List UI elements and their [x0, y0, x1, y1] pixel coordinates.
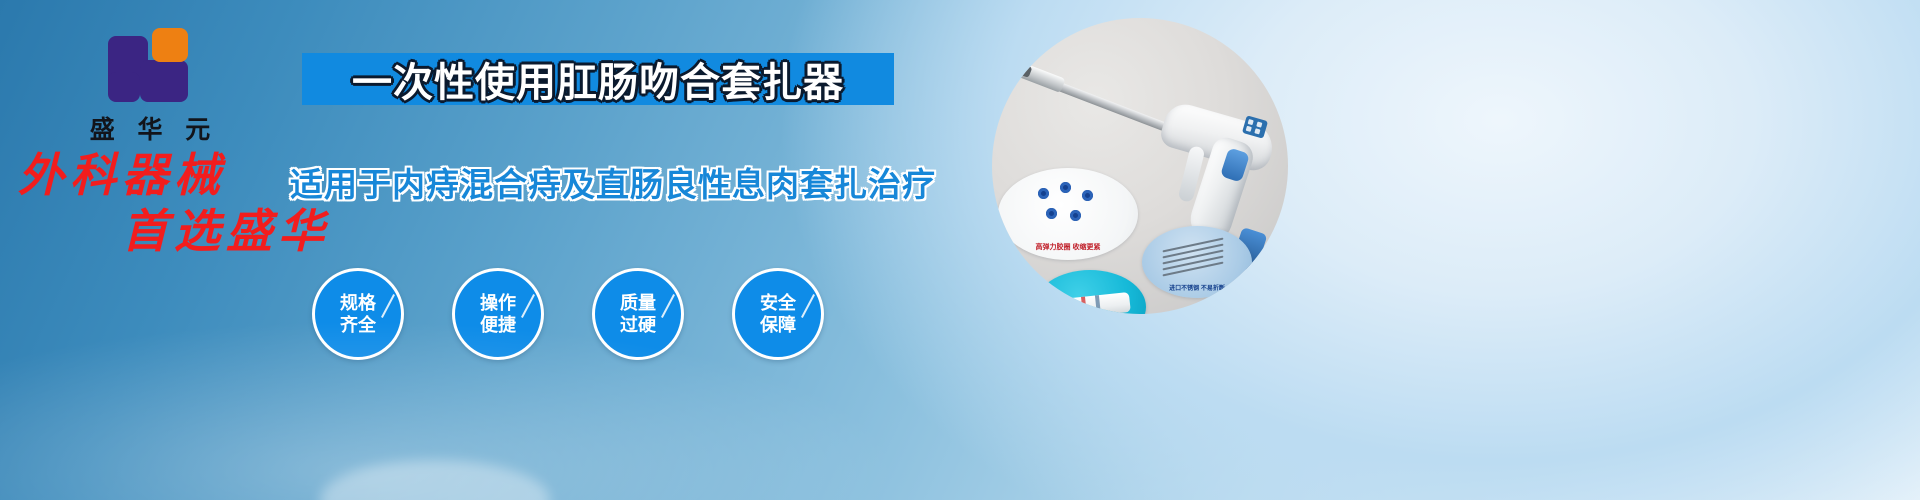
brand-logo: 盛 华 元: [60, 24, 240, 146]
badge-line-2: 过硬: [620, 314, 656, 337]
ligation-ring-icon: [1038, 188, 1049, 199]
badge-line-1: 质量: [620, 292, 656, 315]
badge-line-1: 规格: [340, 292, 376, 315]
logo-mark-icon: [104, 24, 196, 106]
feature-badges: 规格 齐全 操作 便捷 质量 过硬 安全 保障: [312, 268, 912, 363]
feature-badge[interactable]: 质量 过硬: [592, 268, 684, 360]
badge-line-2: 保障: [760, 314, 796, 337]
tube-icon: [1051, 292, 1131, 314]
page-subtitle: 适用于内痔混合痔及直肠良性息肉套扎治疗: [290, 158, 910, 206]
ligation-ring-icon: [1046, 208, 1057, 219]
inset-rings-photo: 高弹力胶圈 收缩更紧: [998, 168, 1138, 260]
decorative-glow: [320, 460, 550, 500]
slogan-line-2: 首选盛华: [18, 208, 348, 254]
ligation-ring-icon: [1070, 210, 1081, 221]
feature-badge[interactable]: 规格 齐全: [312, 268, 404, 360]
inset-needles-photo: 进口不锈钢 不易折断: [1142, 226, 1252, 298]
brand-name: 盛 华 元: [60, 110, 240, 146]
product-photo: 高弹力胶圈 收缩更紧 进口不锈钢 不易折断: [992, 18, 1288, 314]
promo-banner: 盛 华 元 外科器械 首选盛华 一次性使用肛肠吻合套扎器 适用于内痔混合痔及直肠…: [0, 0, 1920, 500]
feature-badge[interactable]: 安全 保障: [732, 268, 824, 360]
inset-needles-caption: 进口不锈钢 不易折断: [1148, 283, 1246, 292]
inset-tube-photo: [1034, 270, 1146, 314]
badge-line-2: 齐全: [340, 314, 376, 337]
badge-line-2: 便捷: [480, 314, 516, 337]
badge-line-1: 操作: [480, 292, 516, 315]
badge-line-1: 安全: [760, 292, 796, 315]
inset-rings-caption: 高弹力胶圈 收缩更紧: [1016, 242, 1120, 252]
title-bar: 一次性使用肛肠吻合套扎器: [302, 53, 894, 105]
ligation-ring-icon: [1082, 190, 1093, 201]
feature-badge[interactable]: 操作 便捷: [452, 268, 544, 360]
ligation-ring-icon: [1060, 182, 1071, 193]
page-title: 一次性使用肛肠吻合套扎器: [302, 53, 894, 105]
